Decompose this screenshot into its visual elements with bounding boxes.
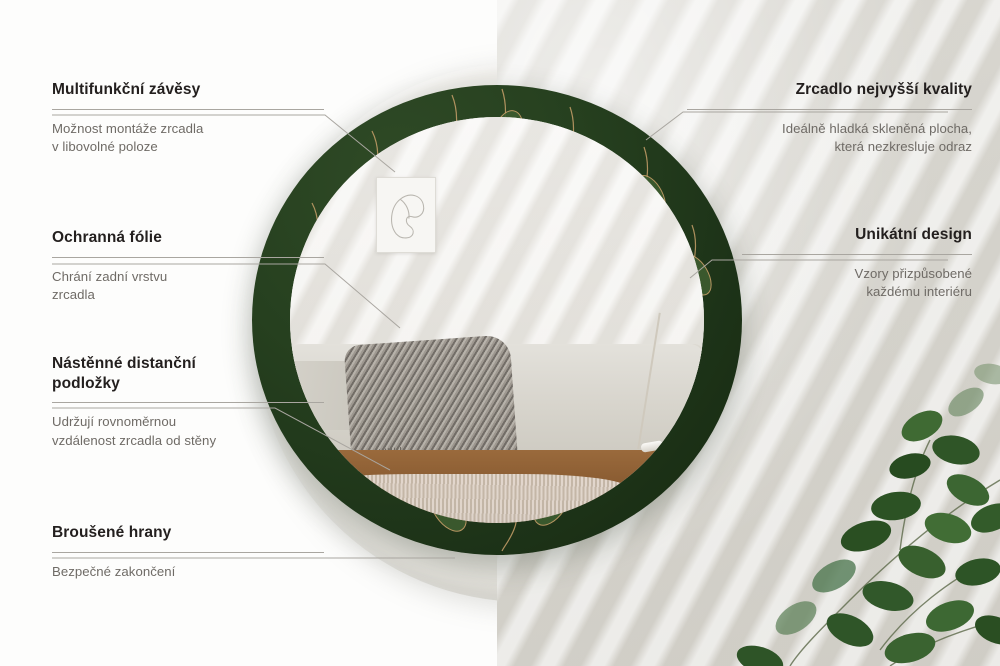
callout-description: Chrání zadní vrstvu zrcadla	[52, 268, 324, 305]
callout-desc-line-2: vzdálenost zrcadla od stěny	[52, 432, 324, 451]
reflected-rug	[290, 474, 629, 523]
callout-rule	[52, 257, 324, 258]
callout-description: Udržují rovnoměrnou vzdálenost zrcadla o…	[52, 413, 324, 450]
callout-title: Zrcadlo nejvyšší kvality	[687, 80, 972, 100]
reflected-wall	[290, 117, 704, 369]
callout-title: Multifunkční závěsy	[52, 80, 324, 100]
plant-foliage	[700, 330, 1000, 666]
callout-multifunkcni-zavesy: Multifunkční závěsy Možnost montáže zrca…	[52, 80, 324, 157]
callout-desc-line-2: každému interiéru	[742, 283, 972, 302]
callout-title: Unikátní design	[742, 225, 972, 245]
callout-desc-line-1: Vzory přizpůsobené	[742, 265, 972, 284]
callout-title-line-2: podložky	[52, 374, 324, 394]
callout-title-line-1: Nástěnné distanční	[52, 354, 324, 374]
callout-description: Bezpečné zakončení	[52, 563, 324, 582]
callout-desc-line-2: která nezkresluje odraz	[687, 138, 972, 157]
callout-unikatni-design: Unikátní design Vzory přizpůsobené každé…	[742, 225, 972, 302]
callout-zrcadlo-nejvyssi-kvality: Zrcadlo nejvyšší kvality Ideálně hladká …	[687, 80, 972, 157]
callout-description: Možnost montáže zrcadla v libovolné polo…	[52, 120, 324, 157]
product-infographic: Multifunkční závěsy Možnost montáže zrca…	[0, 0, 1000, 666]
line-art-face-icon	[377, 178, 435, 251]
callout-title: Ochranná fólie	[52, 228, 324, 248]
callout-rule	[52, 402, 324, 403]
callout-brousene-hrany: Broušené hrany Bezpečné zakončení	[52, 523, 324, 581]
callout-desc-line-1: Bezpečné zakončení	[52, 563, 324, 582]
callout-rule	[742, 254, 972, 255]
callout-desc-line-1: Ideálně hladká skleněná plocha,	[687, 120, 972, 139]
reflected-poster-frame	[376, 177, 436, 253]
callout-description: Ideálně hladká skleněná plocha, která ne…	[687, 120, 972, 157]
callout-desc-line-1: Možnost montáže zrcadla	[52, 120, 324, 139]
callout-desc-line-2: v libovolné poloze	[52, 138, 324, 157]
callout-desc-line-1: Chrání zadní vrstvu	[52, 268, 324, 287]
callout-description: Vzory přizpůsobené každému interiéru	[742, 265, 972, 302]
callout-desc-line-2: zrcadla	[52, 286, 324, 305]
callout-title: Broušené hrany	[52, 523, 324, 543]
callout-rule	[687, 109, 972, 110]
callout-rule	[52, 552, 324, 553]
mirror-glass	[290, 117, 704, 523]
callout-desc-line-1: Udržují rovnoměrnou	[52, 413, 324, 432]
callout-ochranna-folie: Ochranná fólie Chrání zadní vrstvu zrcad…	[52, 228, 324, 305]
callout-rule	[52, 109, 324, 110]
callout-title: Nástěnné distanční podložky	[52, 354, 324, 393]
callout-nastenne-distancni-podlozky: Nástěnné distanční podložky Udržují rovn…	[52, 354, 324, 451]
